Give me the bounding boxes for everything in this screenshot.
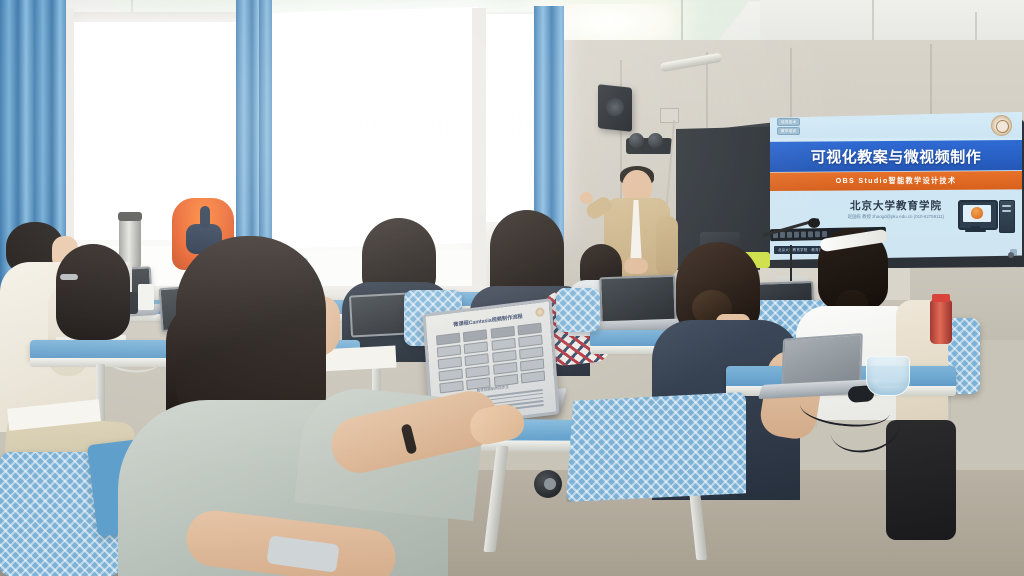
toolbar-button[interactable] bbox=[822, 231, 827, 237]
speaker-cone bbox=[606, 98, 624, 116]
toolbar-button[interactable] bbox=[794, 232, 799, 238]
table-cell bbox=[438, 357, 462, 370]
table-cell bbox=[517, 323, 541, 336]
chair-back[interactable] bbox=[566, 392, 746, 502]
toolbar-button[interactable] bbox=[801, 231, 806, 237]
pc-tower-icon bbox=[999, 200, 1015, 233]
toolbar-button[interactable] bbox=[787, 232, 792, 238]
slide-subtitle: OBS Studio智能教学设计技术 bbox=[836, 176, 957, 186]
table-cell bbox=[492, 350, 516, 363]
camera-icon bbox=[648, 133, 663, 148]
microphone-stand bbox=[790, 245, 792, 281]
table-column bbox=[463, 329, 491, 390]
wall-seam bbox=[790, 48, 792, 118]
drive-bay bbox=[1002, 205, 1011, 207]
camera-icon bbox=[629, 133, 644, 148]
drive-bay bbox=[1002, 210, 1011, 212]
classroom-photo: 信息技术 教学培训 可视化教案与微视频制作 OBS Studio智能教学设计技术… bbox=[0, 0, 1024, 576]
microphone-head bbox=[808, 218, 820, 228]
university-seal-icon bbox=[991, 115, 1012, 136]
toolbar-button[interactable] bbox=[808, 231, 813, 237]
table-cell bbox=[518, 335, 542, 348]
lecturer-hand bbox=[580, 192, 593, 204]
table-cell bbox=[490, 326, 514, 339]
table-cell bbox=[436, 333, 460, 346]
toolbar-button[interactable] bbox=[815, 231, 820, 237]
slide-title: 可视化教案与微视频制作 bbox=[811, 146, 982, 167]
slide-tag: 教学培训 bbox=[777, 127, 800, 135]
table-cell bbox=[520, 359, 544, 372]
table-cell bbox=[465, 353, 489, 366]
table-cell bbox=[493, 362, 517, 375]
student-hair bbox=[56, 244, 130, 340]
slide-title-band: 可视化教案与微视频制作 bbox=[770, 140, 1022, 172]
hanging-cable bbox=[681, 0, 683, 44]
eyeglasses-icon bbox=[60, 274, 78, 280]
toolbar-button[interactable] bbox=[780, 232, 785, 238]
paper-cup[interactable] bbox=[138, 284, 154, 310]
lecturer-hands bbox=[624, 258, 648, 274]
table-cell bbox=[437, 345, 461, 358]
red-water-bottle[interactable] bbox=[930, 300, 952, 344]
table-cell bbox=[466, 365, 490, 378]
laptop-screen[interactable] bbox=[349, 292, 411, 337]
bottle-cap bbox=[932, 294, 950, 302]
display-power-button[interactable] bbox=[1008, 252, 1014, 258]
slide-subtitle-band: OBS Studio智能教学设计技术 bbox=[770, 171, 1022, 191]
sensor-box bbox=[660, 108, 679, 123]
thermos-lid bbox=[118, 212, 142, 221]
table-column bbox=[436, 333, 464, 394]
table-cell bbox=[491, 338, 515, 351]
table-cell bbox=[519, 347, 543, 360]
student-legs bbox=[886, 420, 956, 540]
table-cell bbox=[438, 369, 462, 382]
table-column bbox=[517, 323, 545, 384]
camera-rail bbox=[626, 138, 672, 154]
table-cell bbox=[464, 341, 488, 354]
water-glass[interactable] bbox=[866, 356, 910, 396]
computer-graphic bbox=[958, 200, 1014, 238]
chair-back[interactable] bbox=[556, 288, 600, 332]
brain-icon bbox=[971, 207, 983, 219]
backpack-strap bbox=[200, 206, 210, 228]
curtain[interactable] bbox=[428, 6, 496, 298]
table-column bbox=[490, 326, 518, 387]
caster-hub bbox=[544, 478, 556, 490]
slide-tag: 信息技术 bbox=[777, 118, 800, 126]
table-cell bbox=[463, 329, 487, 342]
lecturer-arm bbox=[656, 216, 678, 276]
wall-seam bbox=[930, 44, 932, 114]
monitor-base bbox=[965, 230, 986, 232]
